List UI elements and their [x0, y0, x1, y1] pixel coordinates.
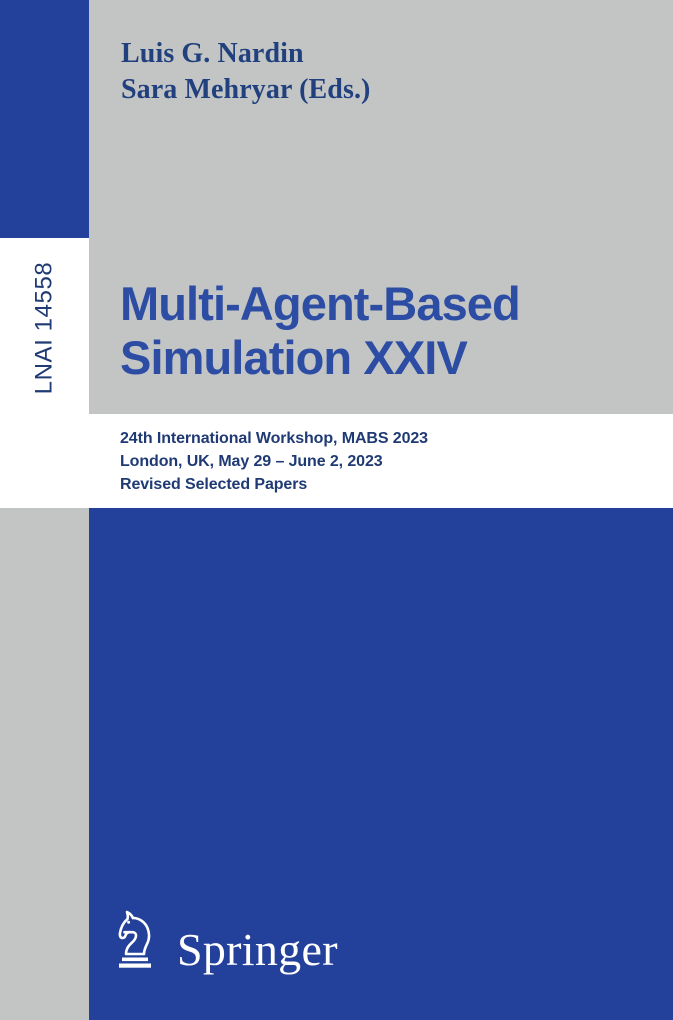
- spine-grey-block: [0, 418, 89, 1020]
- subtitle-line-2: London, UK, May 29 – June 2, 2023: [120, 450, 428, 473]
- book-cover: LNAI 14558 Luis G. Nardin Sara Mehryar (…: [0, 0, 673, 1020]
- springer-knight-icon: [113, 908, 165, 970]
- subtitle-line-1: 24th International Workshop, MABS 2023: [120, 427, 428, 450]
- editor-name-2: Sara Mehryar (Eds.): [121, 72, 370, 108]
- spine-blue-block: [0, 0, 89, 238]
- book-subtitle: 24th International Workshop, MABS 2023 L…: [120, 427, 428, 497]
- subtitle-line-3: Revised Selected Papers: [120, 473, 428, 496]
- book-title-line-1: Multi-Agent-Based: [120, 277, 520, 331]
- series-label: LNAI 14558: [0, 238, 89, 418]
- book-title-line-2: Simulation XXIV: [120, 331, 520, 385]
- editor-name-1: Luis G. Nardin: [121, 36, 370, 72]
- series-label-text: LNAI 14558: [31, 262, 59, 395]
- book-title: Multi-Agent-Based Simulation XXIV: [120, 277, 520, 384]
- publisher-name: Springer: [177, 927, 338, 973]
- publisher-logo: Springer: [113, 908, 338, 970]
- editors-block: Luis G. Nardin Sara Mehryar (Eds.): [121, 36, 370, 109]
